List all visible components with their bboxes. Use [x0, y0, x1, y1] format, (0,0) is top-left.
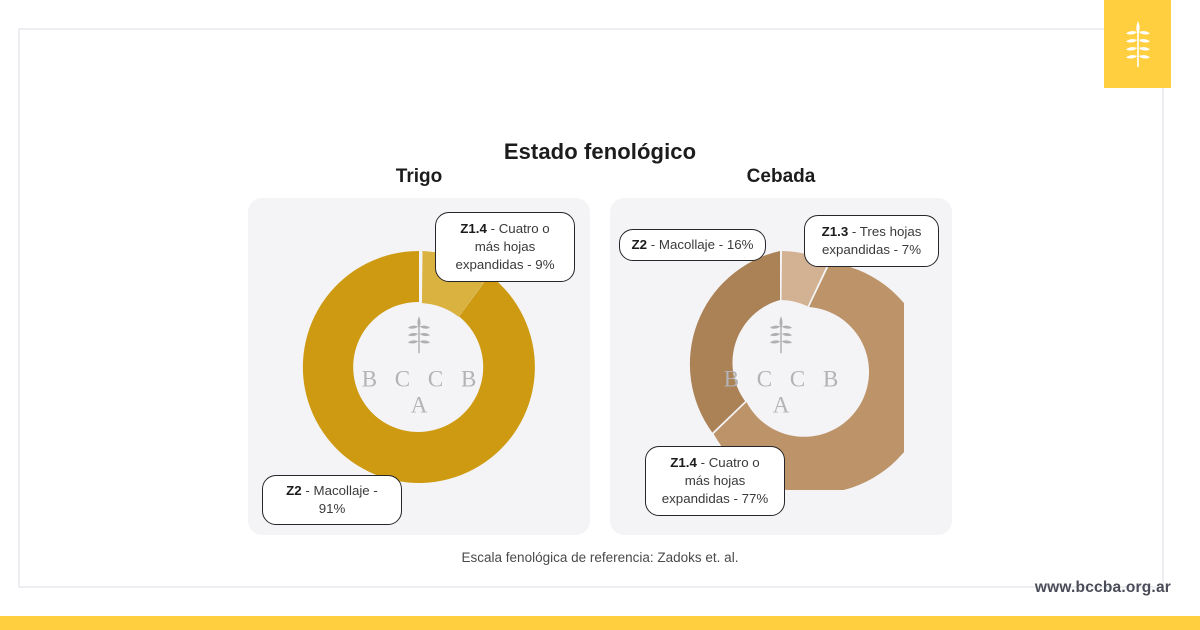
callout-text: - Macollaje - 16% — [647, 237, 753, 252]
chart-column-cebada: Cebada — [610, 166, 952, 535]
callout-code: Z2 — [632, 237, 648, 252]
callout-cebada-z14: Z1.4 - Cuatro o más hojas expandidas - 7… — [645, 446, 785, 516]
donut-slice-trigo-z2[interactable] — [303, 250, 535, 482]
donut-slice-cebada-z2[interactable] — [690, 251, 780, 433]
chart-footnote: Escala fenológica de referencia: Zadoks … — [0, 550, 1200, 565]
chart-title-trigo: Trigo — [248, 166, 590, 188]
charts-container: Trigo — [0, 166, 1200, 535]
callout-cebada-z2: Z2 - Macollaje - 16% — [619, 229, 766, 261]
chart-title-cebada: Cebada — [610, 166, 952, 188]
bottom-accent-bar — [0, 616, 1200, 630]
callout-trigo-z2: Z2 - Macollaje - 91% — [262, 475, 402, 525]
chart-panel-trigo: B C C B A Z1.4 - Cuatro o más hojas expa… — [248, 198, 590, 535]
website-url: www.bccba.org.ar — [1035, 579, 1171, 597]
chart-column-trigo: Trigo — [248, 166, 590, 535]
callout-code: Z1.3 — [822, 224, 849, 239]
bccba-logo — [1104, 0, 1171, 88]
callout-code: Z2 — [286, 483, 302, 498]
callout-text: - Macollaje - 91% — [302, 483, 378, 516]
callout-code: Z1.4 — [460, 221, 487, 236]
chart-panel-cebada: B C C B A Z2 - Macollaje - 16% Z1.3 - Tr… — [610, 198, 952, 535]
wheat-stalk-icon — [1125, 21, 1151, 67]
callout-trigo-z14: Z1.4 - Cuatro o más hojas expandidas - 9… — [435, 212, 575, 282]
page-title: Estado fenológico — [0, 139, 1200, 165]
callout-cebada-z13: Z1.3 - Tres hojas expandidas - 7% — [804, 215, 939, 267]
callout-code: Z1.4 — [670, 455, 697, 470]
